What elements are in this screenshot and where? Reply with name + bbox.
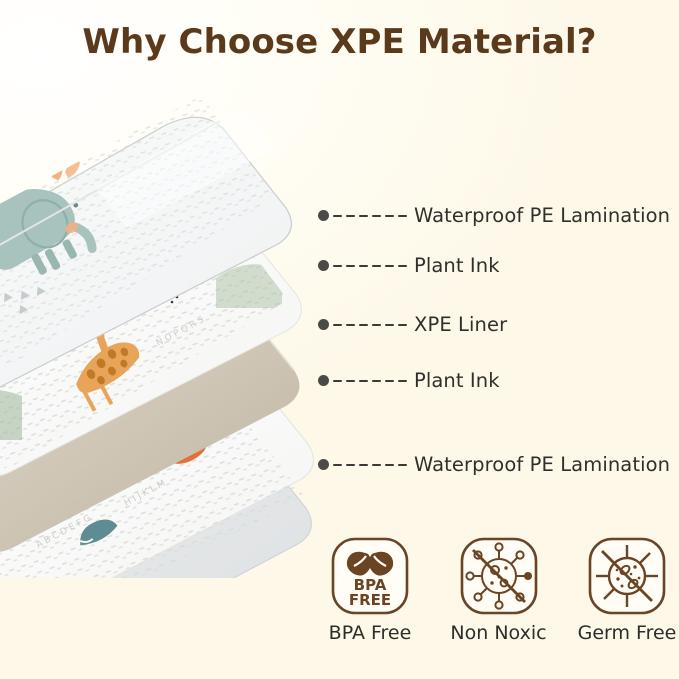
play-mat-illustration: A B C D E F G H I J K L M (0, 78, 326, 578)
bullet-icon (318, 210, 329, 221)
layer-label-text: Waterproof PE Lamination (414, 453, 670, 476)
germ-crossed-out-icon (587, 536, 667, 616)
layer-label-row-4[interactable]: Plant Ink (318, 369, 500, 392)
bullet-icon (318, 260, 329, 271)
badge-caption: Germ Free (578, 622, 677, 644)
infographic-canvas: Why Choose XPE Material? (0, 0, 679, 679)
layer-label-text: Plant Ink (414, 369, 500, 392)
layer-label-text: XPE Liner (414, 313, 507, 336)
layer-label-text: Plant Ink (414, 254, 500, 277)
layer-label-text: Waterproof PE Lamination (414, 204, 670, 227)
layer-label-row-3[interactable]: XPE Liner (318, 313, 507, 336)
bullet-icon (318, 319, 329, 330)
layer-label-row-2[interactable]: Plant Ink (318, 254, 500, 277)
dashed-leader-icon (333, 324, 407, 326)
dashed-leader-icon (333, 215, 407, 217)
badge-germ-free[interactable]: Germ Free (575, 536, 679, 656)
badge-caption: Non Noxic (450, 622, 546, 644)
bullet-icon (318, 375, 329, 386)
dashed-leader-icon (333, 464, 407, 466)
badge-bpa-free[interactable]: BPA FREE BPA Free (318, 536, 422, 656)
badge-non-noxic[interactable]: Non Noxic (447, 536, 551, 656)
bpa-inner-line-2: FREE (349, 591, 391, 609)
layer-label-row-5[interactable]: Waterproof PE Lamination (318, 453, 670, 476)
badge-caption: BPA Free (329, 622, 412, 644)
dashed-leader-icon (333, 380, 407, 382)
bullet-icon (318, 459, 329, 470)
bpa-free-leaf-icon: BPA FREE (330, 536, 410, 616)
dashed-leader-icon (333, 265, 407, 267)
virus-crossed-out-icon (459, 536, 539, 616)
certification-badge-row: BPA FREE BPA Free (318, 536, 679, 656)
layer-label-row-1[interactable]: Waterproof PE Lamination (318, 204, 670, 227)
page-title: Why Choose XPE Material? (0, 22, 679, 62)
